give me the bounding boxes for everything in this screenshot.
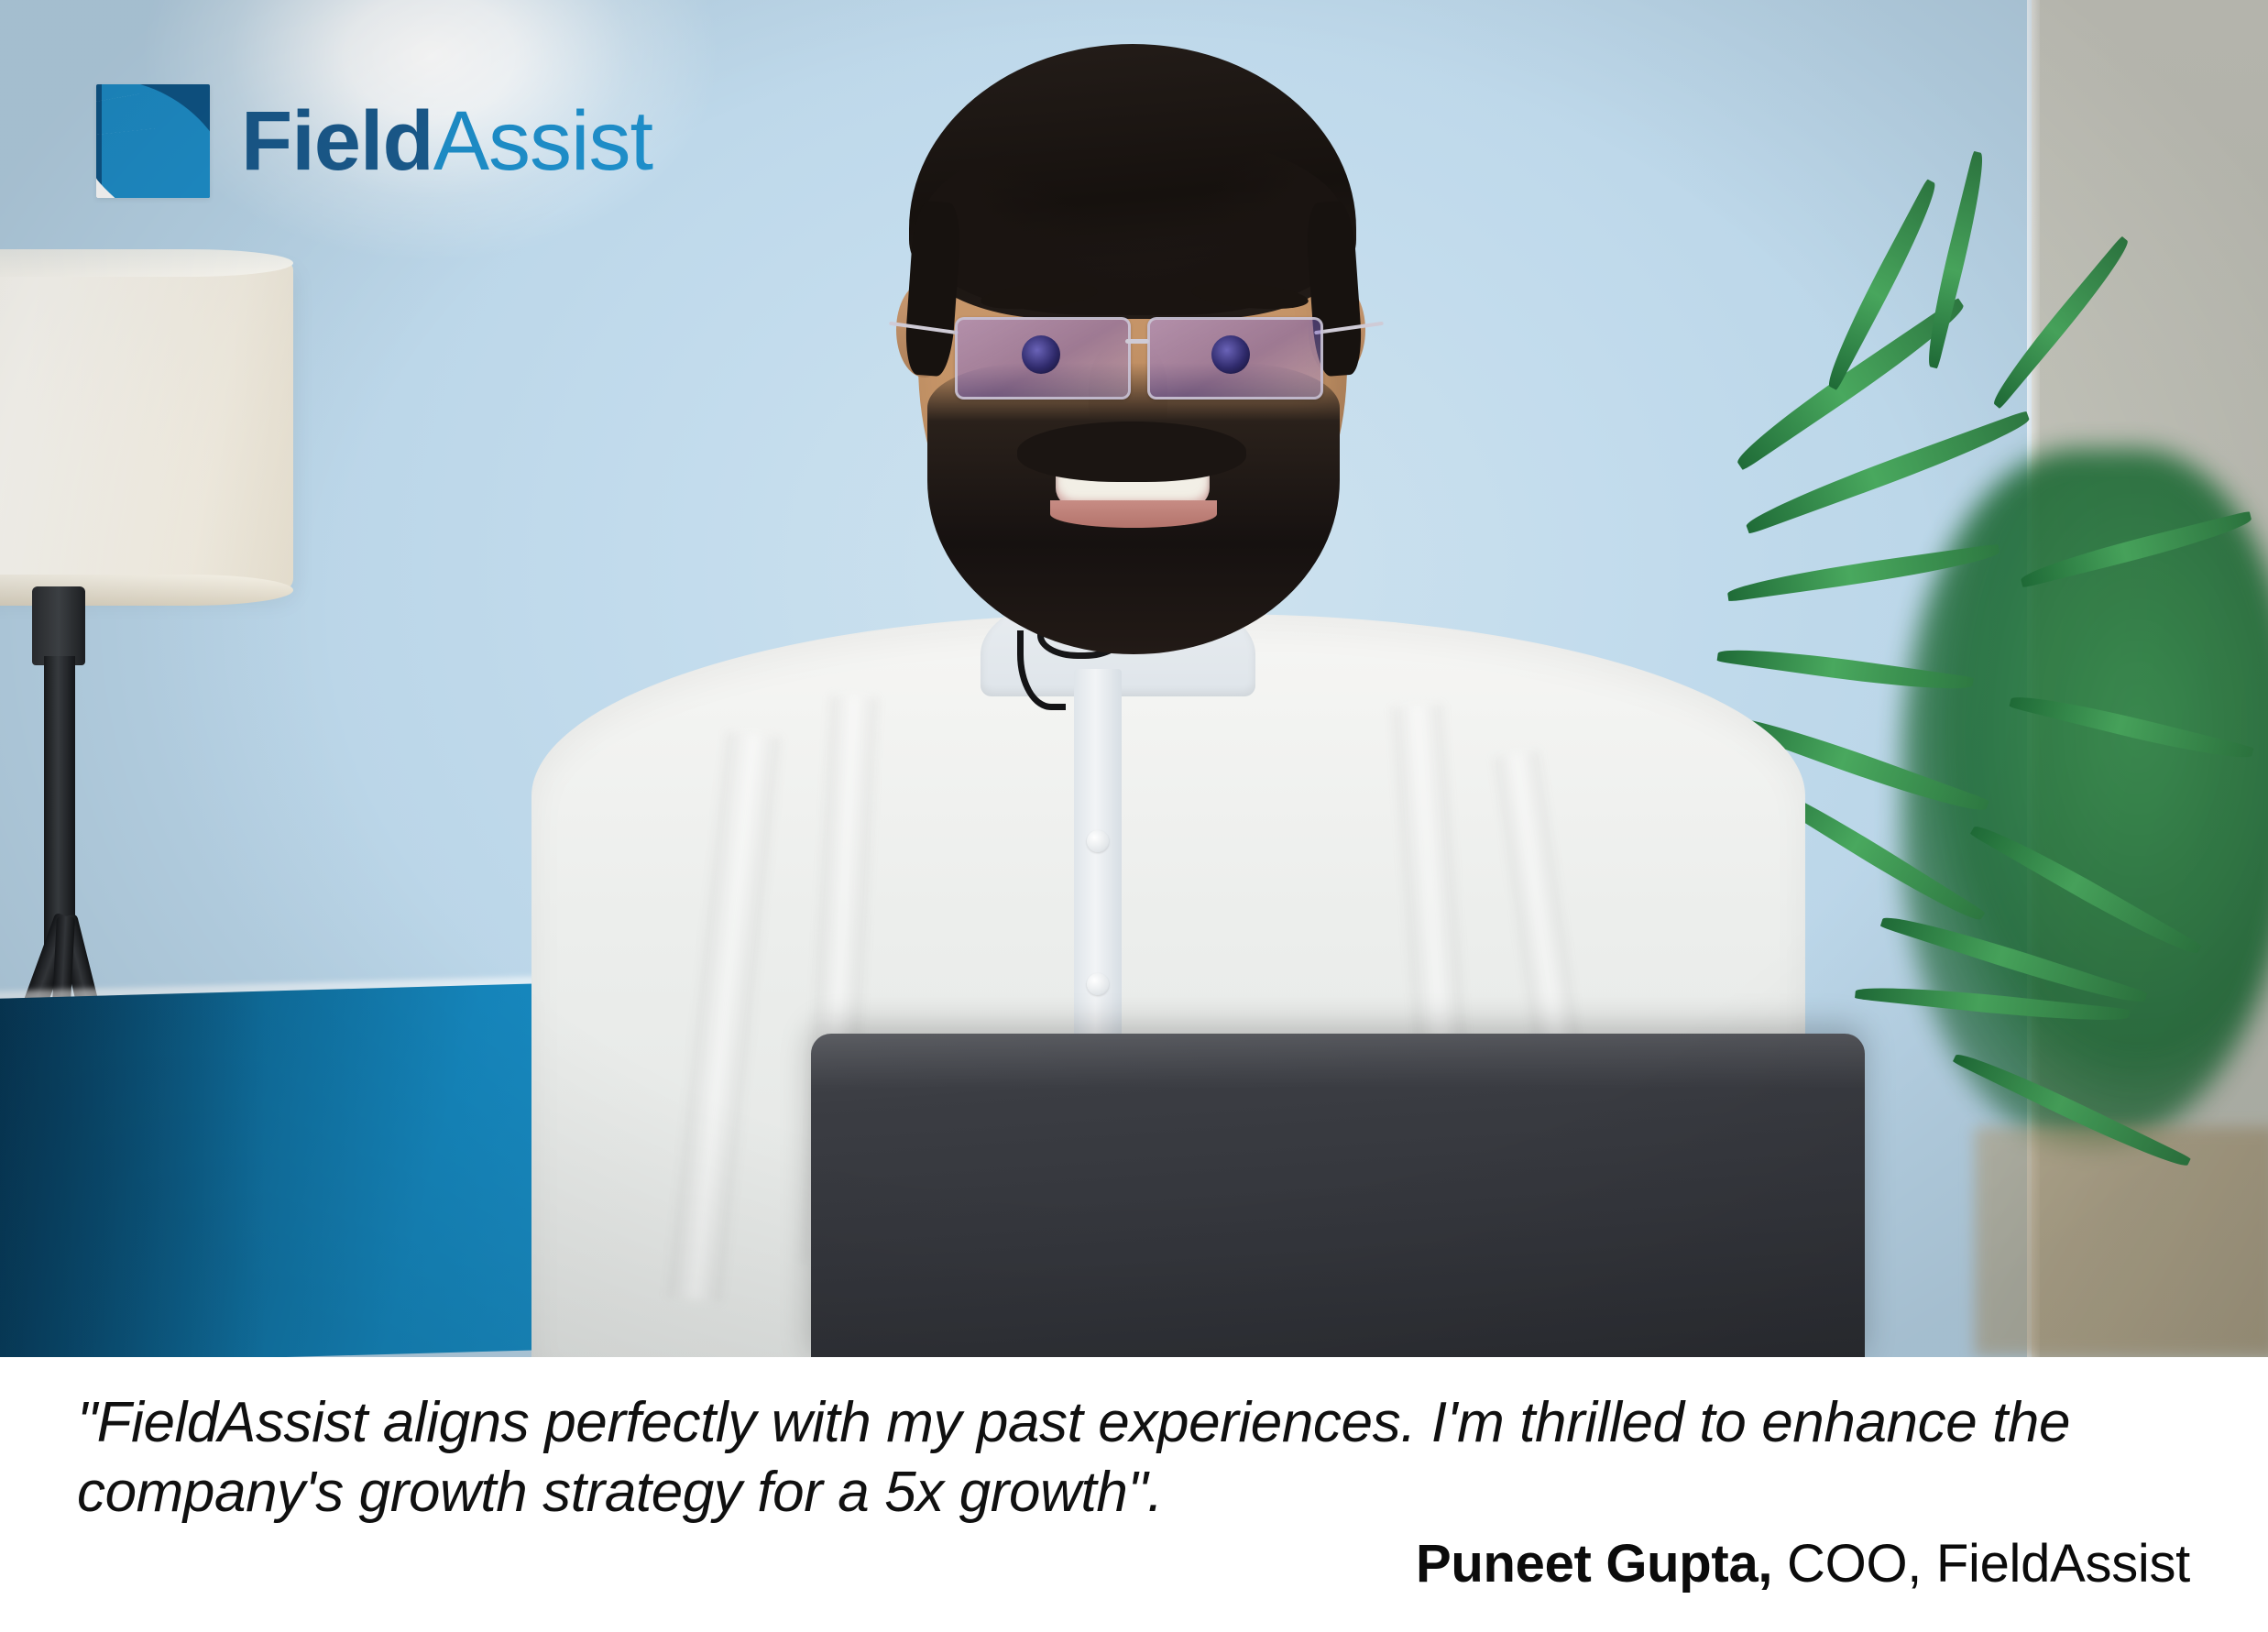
hair [909, 44, 1356, 319]
shirt-button [1087, 830, 1109, 852]
testimonial-quote: "FieldAssist aligns perfectly with my pa… [77, 1388, 2194, 1527]
photo-region: FieldAssist [0, 0, 2268, 1357]
caption-band: "FieldAssist aligns perfectly with my pa… [0, 1357, 2268, 1632]
attribution-role: COO, FieldAssist [1787, 1534, 2190, 1594]
moustache [1017, 422, 1246, 482]
quote-attribution: Puneet Gupta, COO, FieldAssist [1416, 1533, 2190, 1594]
lower-lip [1050, 500, 1217, 528]
plant-pot [1975, 1127, 2268, 1356]
eye-left [1022, 335, 1060, 374]
logo-word-field: Field [241, 94, 433, 188]
glasses-bridge [1125, 339, 1149, 344]
fieldassist-sail-mark-icon [96, 84, 210, 198]
eye-right [1211, 335, 1250, 374]
testimonial-card: FieldAssist "FieldAssist aligns perfectl… [0, 0, 2268, 1632]
glasses-temple-left [889, 322, 959, 335]
fieldassist-logo: FieldAssist [96, 84, 652, 198]
lamp-neck [32, 586, 85, 665]
logo-swoosh-inner [96, 121, 210, 198]
laptop-lid-highlight [811, 1034, 1865, 1089]
lamp-shade [0, 261, 293, 591]
laptop [811, 1034, 1865, 1357]
shirt-button [1087, 973, 1109, 995]
attribution-name: Puneet Gupta, [1416, 1534, 1772, 1594]
glasses-temple-right [1314, 322, 1384, 335]
logo-wordmark: FieldAssist [241, 99, 652, 183]
logo-word-assist: Assist [433, 94, 652, 188]
eyeglasses [889, 312, 1384, 412]
